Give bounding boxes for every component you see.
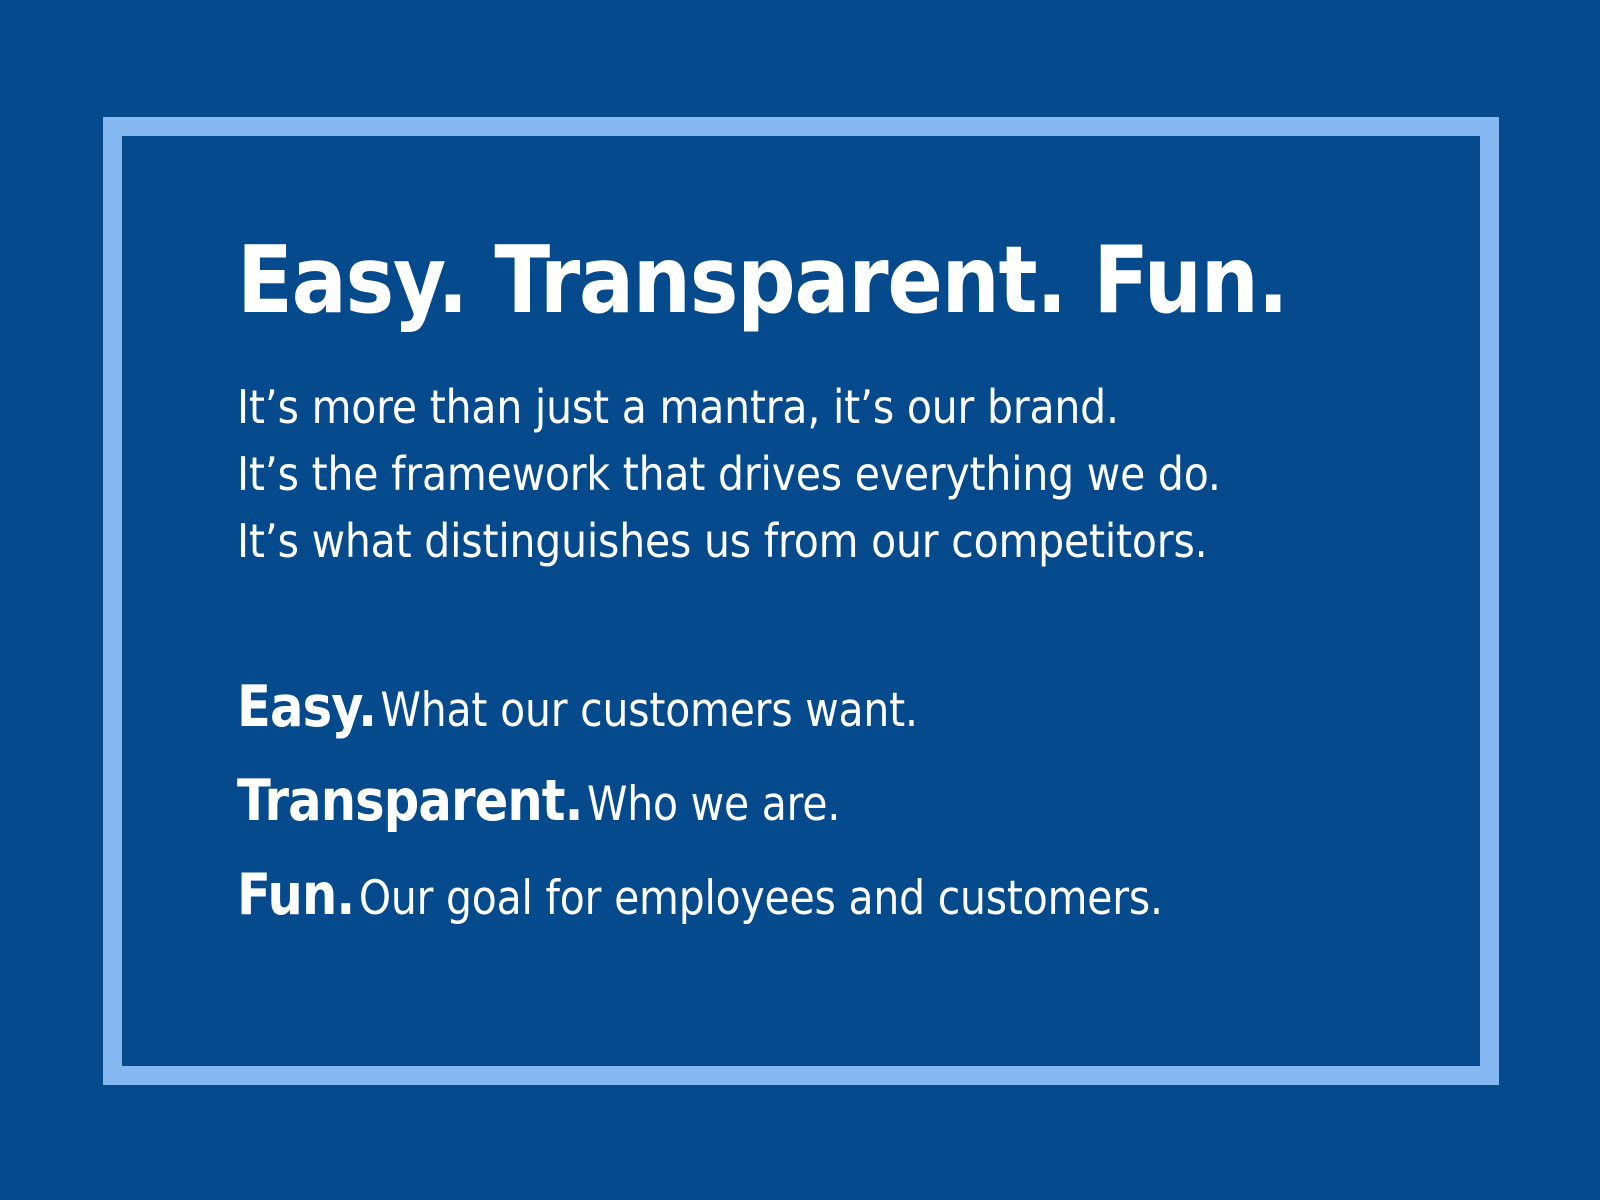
- intro-paragraph: It’s more than just a mantra, it’s our b…: [237, 374, 1417, 575]
- pillar-term: Easy.: [237, 674, 376, 740]
- pillar-list: Easy. What our customers want. Transpare…: [237, 667, 1417, 949]
- slide-headline: Easy. Transparent. Fun.: [237, 232, 1275, 330]
- pillar-term: Transparent.: [237, 768, 583, 834]
- intro-line: It’s the framework that drives everythin…: [237, 441, 1287, 508]
- pillar-description: What our customers want.: [381, 683, 918, 738]
- pillar-description: Who we are.: [587, 777, 840, 832]
- slide-content: Easy. Transparent. Fun. It’s more than j…: [237, 232, 1417, 949]
- pillar-term: Fun.: [237, 862, 354, 928]
- pillar-description: Our goal for employees and customers.: [359, 871, 1163, 926]
- intro-line: It’s more than just a mantra, it’s our b…: [237, 374, 1287, 441]
- intro-line: It’s what distinguishes us from our comp…: [237, 508, 1287, 575]
- pillar-item-fun: Fun. Our goal for employees and customer…: [237, 855, 1264, 949]
- pillar-item-transparent: Transparent. Who we are.: [237, 761, 1264, 855]
- slide-canvas: Easy. Transparent. Fun. It’s more than j…: [0, 0, 1600, 1200]
- pillar-item-easy: Easy. What our customers want.: [237, 667, 1264, 761]
